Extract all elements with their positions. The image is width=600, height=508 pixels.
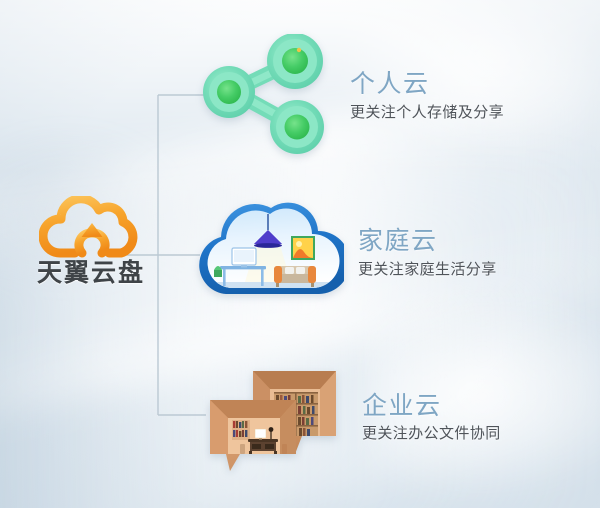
row-family-title: 家庭云 — [358, 227, 497, 257]
orange-cloud-upload-icon — [39, 196, 143, 258]
green-share-nodes-icon — [196, 34, 336, 159]
row-enterprise-title: 企业云 — [362, 392, 501, 422]
row-personal-text: 个人云 更关注个人存储及分享 — [350, 70, 504, 122]
row-personal-subtitle: 更关注个人存储及分享 — [350, 104, 504, 123]
infographic-canvas: 天翼云盘 — [0, 0, 600, 508]
row-personal-title: 个人云 — [350, 70, 504, 100]
row-enterprise-text: 企业云 更关注办公文件协同 — [362, 392, 501, 444]
row-family-cloud[interactable]: 家庭云 更关注家庭生活分享 — [192, 196, 497, 311]
brown-speech-bubbles-office-icon — [196, 358, 348, 478]
row-enterprise-cloud[interactable]: 企业云 更关注办公文件协同 — [196, 358, 501, 478]
row-family-subtitle: 更关注家庭生活分享 — [358, 261, 497, 280]
blue-cloud-livingroom-icon — [192, 196, 344, 311]
row-personal-cloud[interactable]: 个人云 更关注个人存储及分享 — [196, 34, 504, 159]
brand-logo-block: 天翼云盘 — [30, 196, 152, 286]
brand-name: 天翼云盘 — [30, 260, 152, 286]
row-family-text: 家庭云 更关注家庭生活分享 — [358, 227, 497, 279]
row-enterprise-subtitle: 更关注办公文件协同 — [362, 425, 501, 444]
